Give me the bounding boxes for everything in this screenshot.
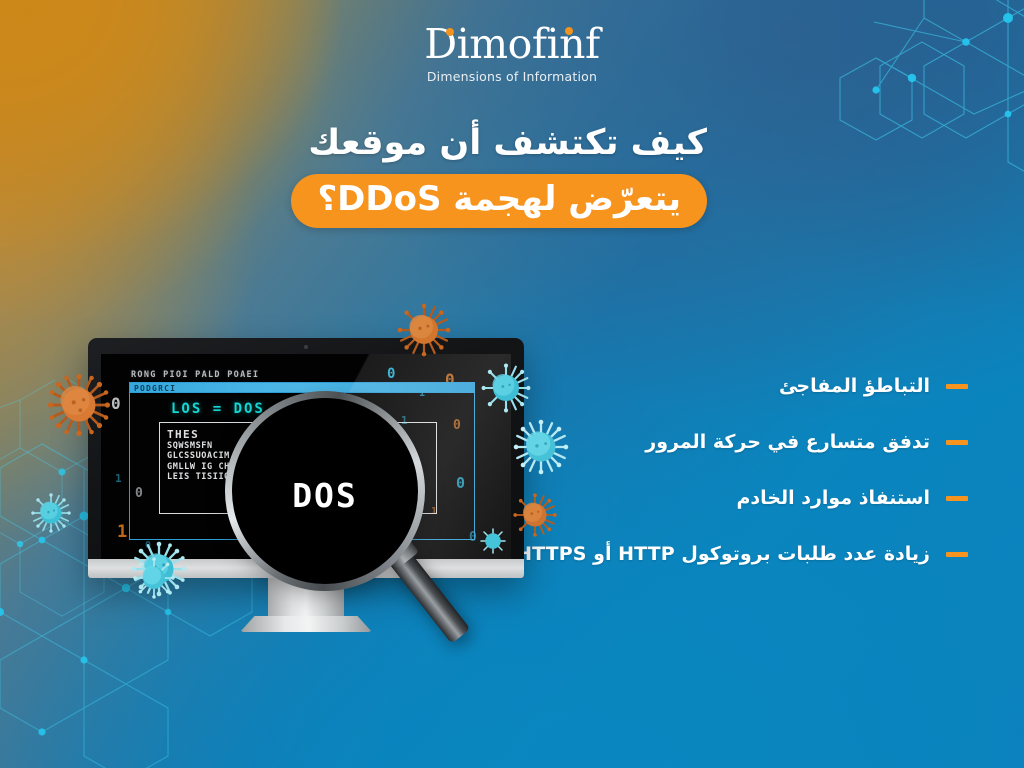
headline-pill: يتعرّض لهجمة DDoS؟ (291, 174, 707, 228)
list-item: التباطؤ المفاجئ (516, 358, 968, 414)
list-item-label: التباطؤ المفاجئ (779, 375, 930, 397)
magnifier-label: DOS (232, 476, 418, 515)
list-item-label: زيادة عدد طلبات بروتوكول HTTP أو HTTPS (516, 543, 930, 565)
webcam-icon (304, 345, 308, 349)
list-item-label: تدفق متسارع في حركة المرور (645, 431, 930, 453)
list-item: زيادة عدد طلبات بروتوكول HTTP أو HTTPS (516, 526, 968, 582)
virus-particle-teal (30, 492, 72, 534)
magnifying-glass: DOS (232, 398, 452, 638)
logo-wordmark: Dimofinf (424, 24, 599, 65)
terminal-header-text: RONG PIOI PALD POAEI (131, 370, 259, 380)
virus-particle-orange (46, 372, 112, 438)
poster-canvas: Dimofinf Dimensions of Information كيف ت… (0, 0, 1024, 768)
binary-digit: 0 (387, 366, 395, 382)
virus-particle-teal (480, 362, 532, 414)
bullet-dash-icon (946, 440, 968, 445)
virus-particle-teal (512, 418, 570, 476)
brand-logo: Dimofinf Dimensions of Information (0, 24, 1024, 84)
bullet-dash-icon (946, 496, 968, 501)
binary-digit: 0 (111, 394, 121, 413)
terminal-title-bar: PODGRCI (129, 382, 475, 393)
bullet-dash-icon (946, 384, 968, 389)
list-item-label: استنفاذ موارد الخادم (736, 487, 930, 509)
list-item: استنفاذ موارد الخادم (516, 470, 968, 526)
magnifier-lens: DOS (232, 398, 418, 584)
bullet-dash-icon (946, 552, 968, 557)
symptom-list: التباطؤ المفاجئ تدفق متسارع في حركة المر… (516, 358, 968, 582)
binary-digit: 1 (117, 522, 127, 542)
logo-tagline: Dimensions of Information (427, 69, 597, 84)
virus-particle-orange (396, 302, 452, 358)
binary-digit: 1 (115, 472, 122, 485)
virus-particle-teal (132, 556, 176, 600)
headline-block: كيف تكتشف أن موقعك يتعرّض لهجمة DDoS؟ (291, 122, 707, 228)
virus-particle-teal-small (478, 526, 508, 556)
headline-line-1: كيف تكتشف أن موقعك (291, 122, 707, 165)
list-item: تدفق متسارع في حركة المرور (516, 414, 968, 470)
virus-particle-orange (512, 492, 558, 538)
logo-dot-right-icon (565, 27, 573, 35)
